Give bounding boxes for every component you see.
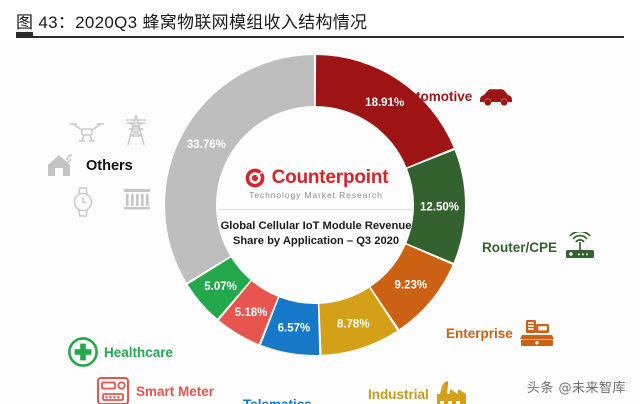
category-label-smart-meter-text: Smart Meter [136,384,214,399]
donut-slice[interactable] [165,55,314,282]
retail-pos-icon [122,186,152,212]
cash-register-icon [519,318,555,348]
donut-slice-percent: 33.76% [187,139,226,151]
drone-icon [70,120,104,146]
donut-slice-percent: 5.18% [235,307,268,319]
category-label-healthcare: Healthcare [68,337,173,367]
page-title: 图 43：2020Q3 蜂窝物联网模组收入结构情况 [16,8,367,33]
category-label-router-text: Router/CPE [482,240,557,255]
donut-slice-percent: 12.50% [420,201,459,213]
donut-slice-percent: 9.23% [394,280,427,292]
donut-chart-area: 18.91%12.50%9.23%8.78%6.57%5.18%5.07%33.… [0,40,640,404]
donut-slice-percent: 6.57% [278,323,311,335]
car-icon [478,86,514,106]
category-label-router: Router/CPE [482,232,597,262]
category-label-others-text: Others [86,158,133,174]
wifi-router-icon [563,232,597,262]
figure-page: 图 43：2020Q3 蜂窝物联网模组收入结构情况 18.91%12.50%9.… [0,0,640,404]
smartwatch-icon [70,186,96,218]
category-label-healthcare-text: Healthcare [104,345,173,360]
category-label-telematics-text: Telematics [243,397,312,404]
category-label-enterprise-text: Enterprise [446,326,513,341]
title-divider [16,36,624,38]
smart-home-icon [46,152,76,178]
category-label-others: Others [86,158,133,174]
category-label-automotive: Automotive [398,86,514,106]
category-label-enterprise: Enterprise [446,318,555,348]
donut-slice-percent: 5.07% [204,281,237,293]
donut-slice-percent: 8.78% [337,318,370,330]
electric-meter-icon [96,376,130,404]
power-tower-icon [122,114,150,146]
watermark: 头条 @未来智库 [527,377,626,396]
factory-icon [435,380,469,404]
category-label-industrial-text: Industrial [368,387,429,402]
category-label-telematics: Telematics [243,397,312,404]
category-label-smart-meter: Smart Meter [96,376,214,404]
medical-cross-icon [68,337,98,367]
donut-slice[interactable] [316,55,454,167]
category-label-automotive-text: Automotive [398,89,472,104]
figure-header: 图 43：2020Q3 蜂窝物联网模组收入结构情况 [0,0,640,40]
category-label-industrial: Industrial [368,380,469,404]
title-accent-tick [16,32,33,36]
